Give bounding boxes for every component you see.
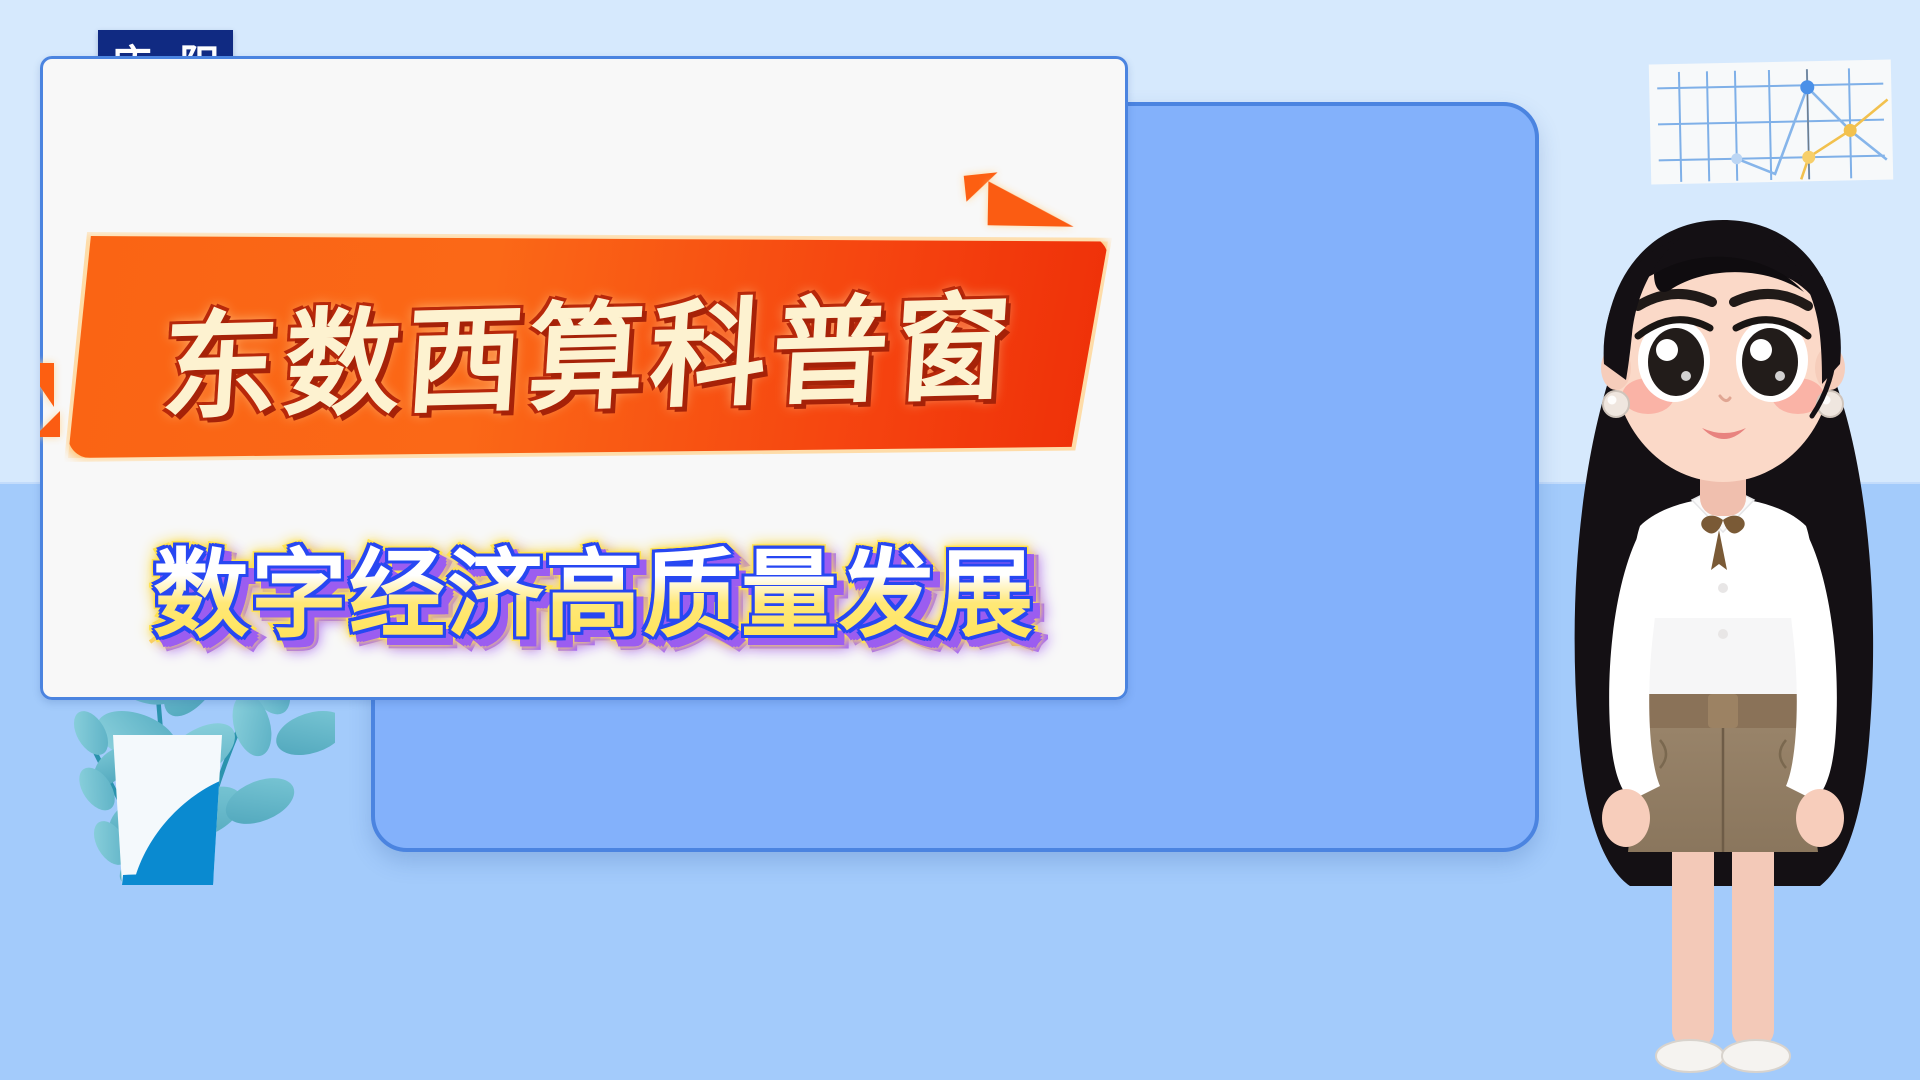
orange-triangle-accent-icon (988, 181, 1075, 226)
page-title: 东数西算科普窗 (95, 252, 1085, 444)
orange-triangle-accent-icon (40, 363, 54, 407)
orange-triangle-accent-icon (40, 411, 60, 437)
vase-icon (105, 735, 230, 885)
subtitle-block: 数字经济高质量发展 数字经济高质量发展 (94, 516, 1094, 656)
page-subtitle: 数字经济高质量发展 (153, 517, 1035, 656)
poster-stage: 庆 阳 融媒 (0, 0, 1920, 1080)
female-presenter-character-icon (1520, 128, 1920, 1080)
tablet-screen: 东数西算科普窗 数字经济高质量发展 数字经济高质量发展 (40, 56, 1128, 700)
